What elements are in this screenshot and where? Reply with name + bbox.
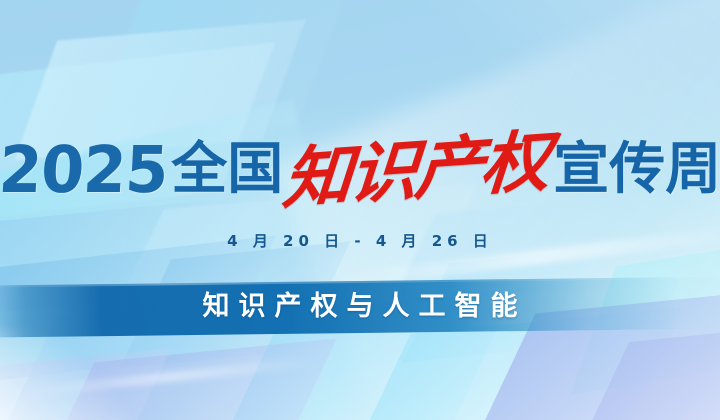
banner-content: 2025 全国 知识产权 宣传周 4 月 20 日 - 4 月 26 日 知识产… [0,0,720,420]
ip-week-banner: 2025 全国 知识产权 宣传周 4 月 20 日 - 4 月 26 日 知识产… [0,0,720,420]
banner-dateline: 4 月 20 日 - 4 月 26 日 [0,230,720,251]
headline-tail: 宣传周 [553,142,720,198]
headline-scope: 全国 [171,142,283,198]
banner-subtitle: 知识产权与人工智能 [0,290,720,324]
banner-headline: 2025 全国 知识产权 宣传周 [0,128,720,212]
headline-emphasis: 知识产权 [281,128,550,213]
headline-year: 2025 [0,138,169,202]
